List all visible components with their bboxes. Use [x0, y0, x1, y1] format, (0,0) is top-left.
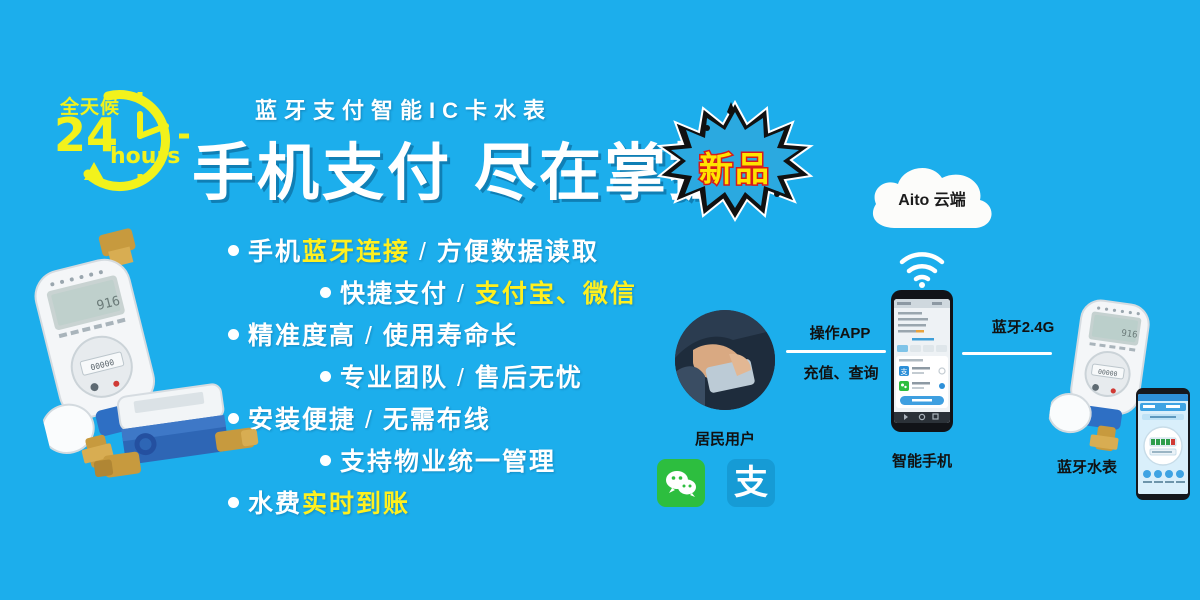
promo-banner: 全天候 24 hours 蓝牙支付智能IC卡水表 手机支付尽在掌握 新品 手机蓝… — [0, 0, 1200, 600]
bullet-plain-text: 使用寿命长 — [383, 322, 518, 350]
feature-bullet-item: 水费实时到账 — [228, 484, 698, 520]
feature-bullet-item: 快捷支付 / 支付宝、微信 — [228, 274, 698, 310]
flow-connector-line-1 — [786, 350, 886, 353]
meter-app-phone-device — [1136, 388, 1190, 500]
bullet-plain-text: / — [448, 280, 475, 308]
feature-bullet-text: 手机蓝牙连接 / 方便数据读取 — [248, 232, 599, 268]
bullet-plain-text: 支持物业统一管理 — [340, 448, 556, 476]
cloud-server-node: Aito 云端 — [862, 158, 1002, 236]
resident-user-label: 居民用户 — [660, 428, 790, 449]
feature-bullet-item: 专业团队 / 售后无忧 — [228, 358, 698, 394]
flow-label-operate-app: 操作APP — [792, 322, 888, 343]
bullet-plain-text: 手机 — [248, 238, 302, 266]
bullet-dot-icon — [320, 287, 331, 298]
headline-left: 手机支付 — [192, 139, 452, 208]
wifi-icon — [898, 252, 946, 288]
bullet-plain-text: / — [356, 406, 383, 434]
feature-bullet-text: 精准度高 / 使用寿命长 — [248, 316, 518, 352]
feature-bullet-item: 手机蓝牙连接 / 方便数据读取 — [228, 232, 698, 268]
flow-label-recharge-query: 充值、查询 — [786, 362, 896, 383]
smartphone-label: 智能手机 — [862, 450, 982, 471]
bullet-dot-icon — [228, 329, 239, 340]
svg-text:支: 支 — [901, 367, 908, 376]
bullet-plain-text: / — [448, 364, 475, 392]
bullet-plain-text: 售后无忧 — [475, 364, 583, 392]
badge-number: 24 — [54, 112, 118, 158]
feature-bullet-text: 安装便捷 / 无需布线 — [248, 400, 491, 436]
flow-connector-line-2 — [962, 352, 1052, 355]
banner-headline: 手机支付尽在掌握 — [192, 122, 734, 212]
new-product-burst-badge: 新品 — [655, 98, 815, 223]
banner-subtitle: 蓝牙支付智能IC卡水表 — [255, 93, 552, 125]
bluetooth-valve-water-meter-image — [79, 366, 271, 524]
alipay-icon[interactable]: 支 — [727, 459, 775, 507]
bullet-plain-text: 精准度高 — [248, 322, 356, 350]
bullet-plain-text: / — [410, 238, 437, 266]
bullet-dot-icon — [320, 371, 331, 382]
feature-bullet-text: 快捷支付 / 支付宝、微信 — [340, 274, 637, 310]
smartphone-device: 支 — [891, 290, 953, 432]
feature-bullet-item: 支持物业统一管理 — [228, 442, 698, 478]
bullet-plain-text: 安装便捷 — [248, 406, 356, 434]
wechat-pay-icon[interactable] — [657, 459, 705, 507]
feature-bullet-text: 支持物业统一管理 — [340, 442, 556, 478]
feature-bullet-text: 专业团队 / 售后无忧 — [340, 358, 583, 394]
bullet-highlight-text: 实时到账 — [302, 490, 410, 518]
feature-bullet-list: 手机蓝牙连接 / 方便数据读取快捷支付 / 支付宝、微信精准度高 / 使用寿命长… — [228, 232, 698, 526]
feature-bullet-text: 水费实时到账 — [248, 484, 410, 520]
svg-text:916: 916 — [1121, 329, 1138, 341]
alipay-glyph: 支 — [734, 466, 768, 500]
feature-bullet-item: 安装便捷 / 无需布线 — [228, 400, 698, 436]
meter-app-screen — [1138, 394, 1188, 494]
feature-bullet-item: 精准度高 / 使用寿命长 — [228, 316, 698, 352]
bullet-dot-icon — [228, 245, 239, 256]
bullet-dot-icon — [320, 455, 331, 466]
bullet-plain-text: 方便数据读取 — [437, 238, 599, 266]
bullet-highlight-text: 蓝牙连接 — [302, 238, 410, 266]
badge-unit: hours — [110, 144, 180, 169]
new-product-label: 新品 — [655, 142, 815, 191]
cloud-label: Aito 云端 — [862, 186, 1002, 210]
bullet-plain-text: / — [356, 322, 383, 350]
bullet-plain-text: 无需布线 — [383, 406, 491, 434]
bullet-plain-text: 快捷支付 — [340, 280, 448, 308]
smartphone-screen: 支 — [894, 299, 950, 423]
bullet-plain-text: 专业团队 — [340, 364, 448, 392]
bluetooth-meter-label: 蓝牙水表 — [1022, 456, 1152, 477]
payment-method-icons: 支 — [657, 459, 775, 507]
bullet-highlight-text: 支付宝、微信 — [475, 280, 637, 308]
resident-user-photo — [675, 310, 775, 410]
24-hours-badge: 全天候 24 hours — [48, 82, 198, 192]
